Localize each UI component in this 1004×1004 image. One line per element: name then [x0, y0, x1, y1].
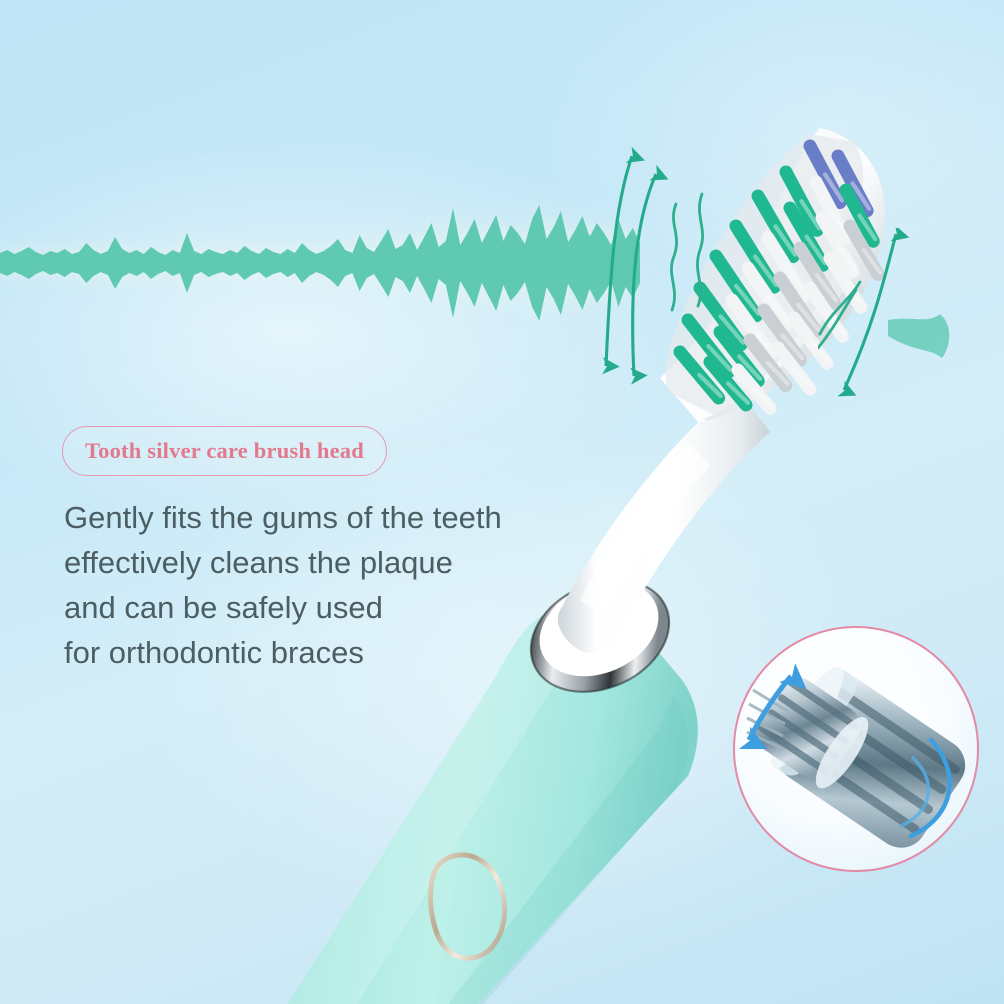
description-line: effectively cleans the plaque — [64, 540, 584, 585]
description-line: and can be safely used — [64, 585, 584, 630]
badge-label: Tooth silver care brush head — [85, 438, 364, 464]
product-feature-badge: Tooth silver care brush head — [62, 426, 387, 476]
description-line: for orthodontic braces — [64, 630, 584, 675]
description-line: Gently fits the gums of the teeth — [64, 495, 584, 540]
product-description: Gently fits the gums of the teeth effect… — [64, 495, 584, 675]
brush-head-closeup-inset — [733, 626, 979, 872]
vibration-arrows-right — [818, 228, 1004, 414]
vibration-arrows-left — [588, 138, 718, 386]
product-image-canvas: Tooth silver care brush head Gently fits… — [0, 0, 1004, 1004]
closeup-illustration — [735, 628, 979, 872]
